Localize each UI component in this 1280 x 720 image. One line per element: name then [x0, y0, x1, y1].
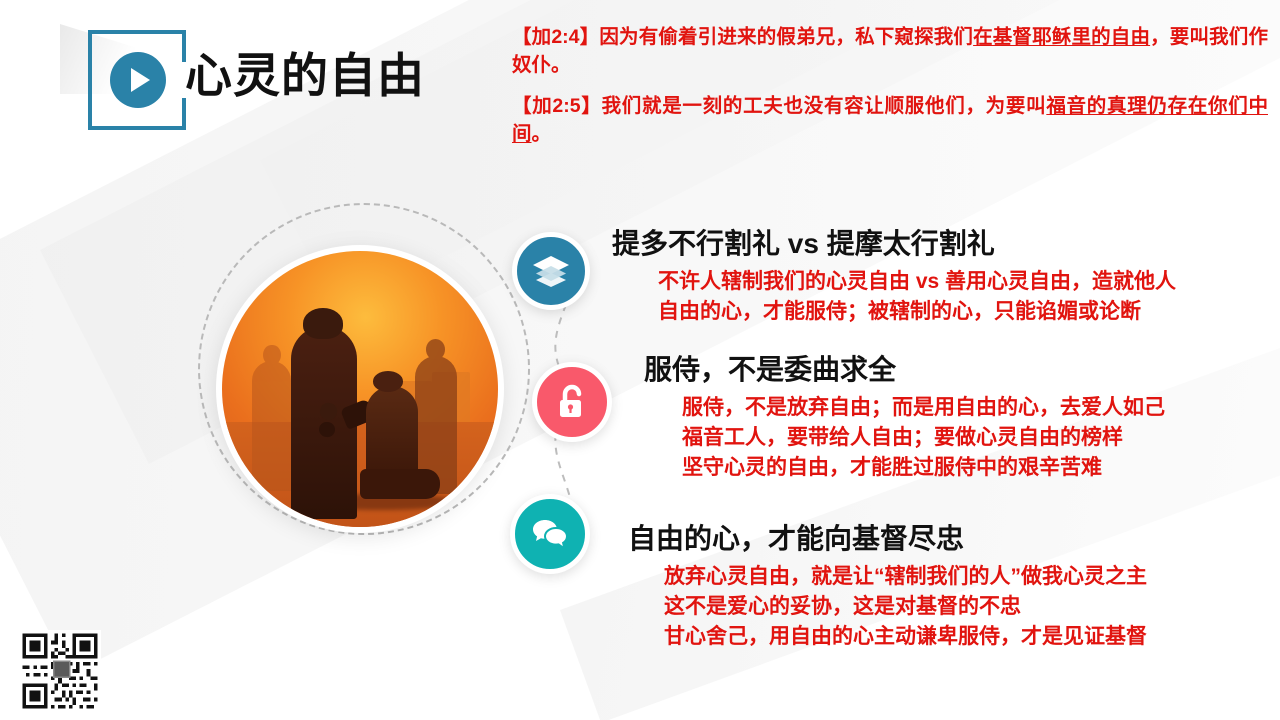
chat-bubbles-icon[interactable] — [510, 494, 590, 574]
section-line: 这不是爱心的妥协，这是对基督的不忠 — [628, 592, 1147, 622]
verse-text: 我们就是一刻的工夫也没有容让顺服他们，为要叫 — [602, 95, 1047, 117]
illustration-frame — [216, 245, 504, 533]
scripture-block: 【加2:4】因为有偷着引进来的假弟兄，私下窥探我们在基督耶稣里的自由，要叫我们作… — [512, 24, 1268, 163]
layers-icon[interactable] — [512, 232, 590, 310]
section-line: 自由的心，才能服侍；被辖制的心，只能谄媚或论断 — [612, 297, 1176, 327]
section-line: 服侍，不是放弃自由；而是用自由的心，去爱人如己 — [644, 393, 1165, 423]
section-heading: 服侍，不是委曲求全 — [644, 352, 1165, 387]
unlock-icon[interactable] — [532, 362, 612, 442]
section-line: 福音工人，要带给人自由；要做心灵自由的榜样 — [644, 423, 1165, 453]
verse-text: 因为有偷着引进来的假弟兄，私下窥探我们 — [599, 26, 973, 48]
jesus-healing-kneeling-man-illustration — [222, 251, 498, 527]
verse-ref: 【加2:4】 — [512, 26, 599, 48]
section-2: 服侍，不是委曲求全 服侍，不是放弃自由；而是用自由的心，去爱人如己 福音工人，要… — [644, 352, 1165, 482]
section-heading: 提多不行割礼 vs 提摩太行割礼 — [612, 226, 1176, 261]
section-line: 放弃心灵自由，就是让“辖制我们的人”做我心灵之主 — [628, 562, 1147, 592]
play-button-icon — [110, 52, 166, 108]
scripture-verse-1: 【加2:4】因为有偷着引进来的假弟兄，私下窥探我们在基督耶稣里的自由，要叫我们作… — [512, 24, 1268, 79]
page-title: 心灵的自由 — [185, 37, 425, 106]
section-heading: 自由的心，才能向基督尽忠 — [628, 521, 1147, 556]
scripture-verse-2: 【加2:5】我们就是一刻的工夫也没有容让顺服他们，为要叫福音的真理仍存在你们中间… — [512, 93, 1268, 148]
section-line: 甘心舍己，用自由的心主动谦卑服侍，才是见证基督 — [628, 622, 1147, 652]
logo — [88, 30, 186, 130]
verse-emphasis: 在基督耶稣里的自由 — [973, 26, 1150, 48]
verse-ref: 【加2:5】 — [512, 95, 602, 117]
section-line: 不许人辖制我们的心灵自由 vs 善用心灵自由，造就他人 — [612, 267, 1176, 297]
verse-text-tail: 。 — [532, 123, 552, 145]
section-line: 坚守心灵的自由，才能胜过服侍中的艰辛苦难 — [644, 453, 1165, 483]
section-1: 提多不行割礼 vs 提摩太行割礼 不许人辖制我们的心灵自由 vs 善用心灵自由，… — [612, 226, 1176, 327]
qr-code[interactable] — [14, 630, 106, 712]
section-3: 自由的心，才能向基督尽忠 放弃心灵自由，就是让“辖制我们的人”做我心灵之主 这不… — [628, 521, 1147, 651]
